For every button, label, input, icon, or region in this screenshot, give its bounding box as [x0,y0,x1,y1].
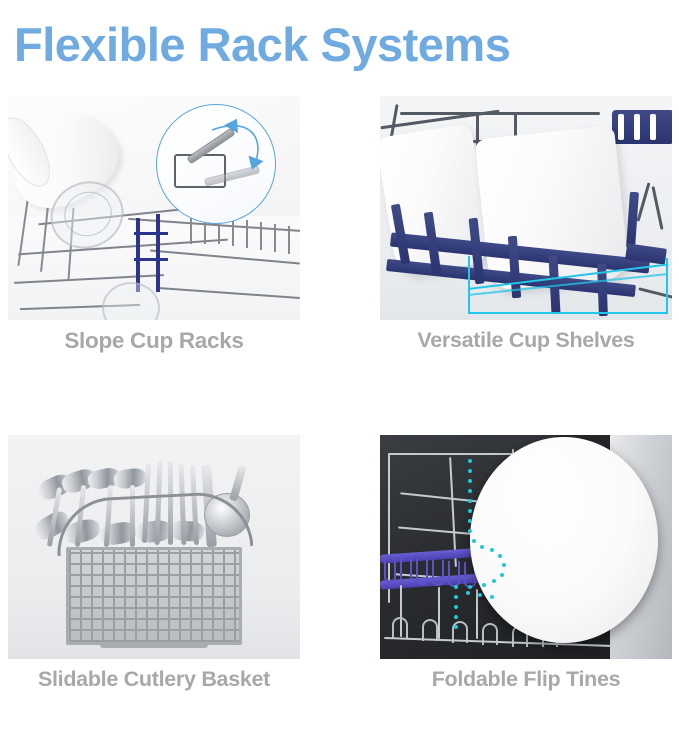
marketing-feature-page: Flexible Rack Systems [0,0,679,733]
guide-dot [468,459,472,463]
rack-tine-blue [156,214,160,292]
rack-tine-blue [134,258,168,261]
guide-dot [468,489,472,493]
guide-dot [454,605,458,609]
rack-loop [650,114,656,140]
guide-dot [482,583,486,587]
lower-rack-wire [438,587,440,639]
guide-dot [468,519,472,523]
rotation-arc-icon [204,116,270,180]
rack-tine-blue [134,232,168,235]
guide-dot [454,595,458,599]
guide-dot [490,595,494,599]
guide-dot [454,625,458,629]
angle-line-right [666,258,668,314]
guide-dot [502,563,506,567]
feature-caption: Foldable Flip Tines [380,667,672,692]
rack-wire [637,182,651,221]
feature-photo-slidable-cutlery-basket [8,435,300,659]
flip-tine-loop [416,559,428,585]
feature-card-slidable-cutlery-basket: Slidable Cutlery Basket [8,435,300,697]
guide-dot [468,469,472,473]
feature-photo-foldable-flip-tines [380,435,672,659]
rack-tine [232,218,234,246]
guide-dot [454,615,458,619]
rack-tine [274,224,276,252]
rack-loop [634,114,640,140]
white-plate [470,437,658,643]
guide-dot [490,548,494,552]
feature-photo-versatile-cup-shelves [380,96,672,320]
guide-dot [498,554,502,558]
guide-dot [468,529,472,533]
page-title: Flexible Rack Systems [0,0,679,88]
flip-tine-loop [400,558,412,584]
guide-dot [466,591,470,595]
plate-tine [392,617,408,639]
angle-line-vertical [468,256,470,314]
flip-tine-loop [432,560,444,586]
guide-dot [468,509,472,513]
flip-tine-loop [448,561,460,587]
guide-dot [472,539,476,543]
cutlery-basket-body [66,547,242,645]
rack-tine [190,216,192,244]
ladle-handle [229,465,247,502]
guide-dot [454,585,458,589]
angle-line-horizontal [468,312,668,314]
rack-loop [618,114,624,140]
guide-dot [480,545,484,549]
feature-grid: Slope Cup Racks [0,88,679,733]
rack-tine-blue [136,218,140,292]
rack-tine [246,220,248,248]
rack-tine [288,226,290,254]
feature-caption: Slidable Cutlery Basket [8,667,300,692]
rack-wire [651,186,663,230]
rack-wire [400,112,600,115]
guide-dot [468,585,472,589]
guide-dot [478,593,482,597]
feature-caption: Versatile Cup Shelves [380,328,672,353]
feature-photo-slope-cup-racks [8,96,300,320]
rack-tine [260,222,262,250]
guide-dot [468,499,472,503]
flip-tine-loop [384,557,396,583]
cutlery-basket-foot [100,643,208,648]
feature-card-foldable-flip-tines: Foldable Flip Tines [380,435,672,697]
guide-dot [492,579,496,583]
guide-dot [500,573,504,577]
feature-card-slope-cup-racks: Slope Cup Racks [8,96,300,358]
guide-dot [468,479,472,483]
feature-card-versatile-cup-shelves: Versatile Cup Shelves [380,96,672,358]
feature-caption: Slope Cup Racks [8,328,300,354]
